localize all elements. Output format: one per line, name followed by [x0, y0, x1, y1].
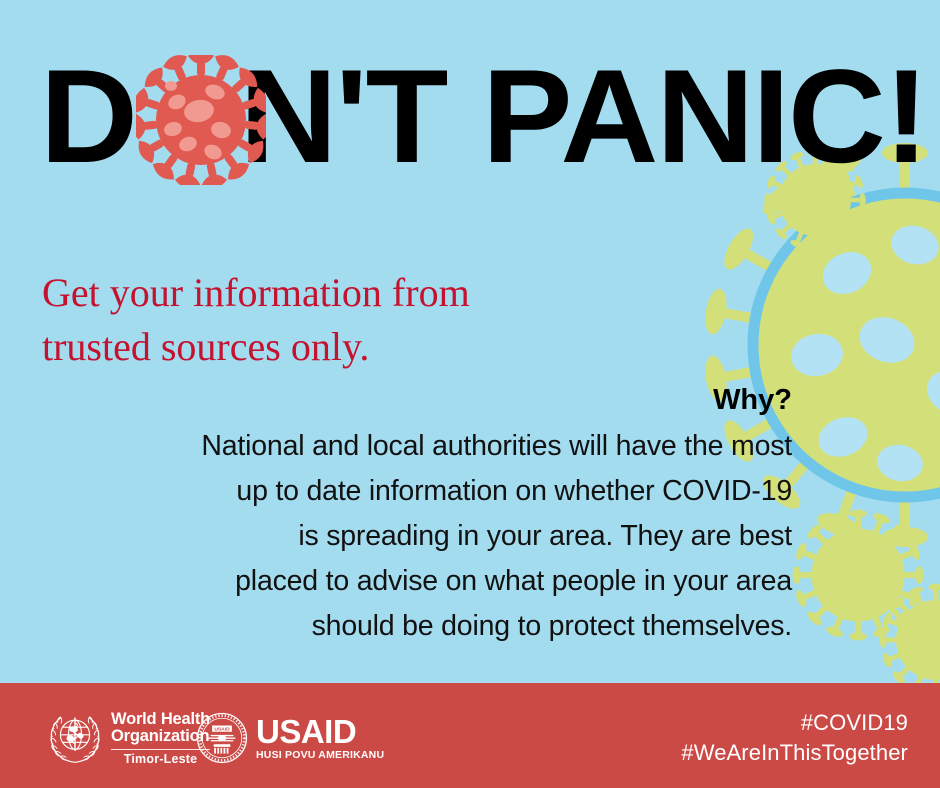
body-line-5: should be doing to protect themselves.: [60, 604, 792, 649]
usaid-logo: USAID USAID HUSI P: [196, 709, 384, 767]
body-line-1: National and local authorities will have…: [60, 424, 792, 469]
hashtag-covid19: #COVID19: [488, 708, 908, 738]
usaid-seal-wordmark: USAID: [214, 727, 230, 733]
who-emblem-icon: [48, 711, 102, 765]
usaid-wordmark: USAID HUSI POVU AMERIKANU: [256, 715, 384, 762]
hashtag-block: #COVID19 #WeAreInThisTogether: [488, 708, 908, 768]
body-text: National and local authorities will have…: [60, 424, 792, 649]
lede-text: Get your information from trusted source…: [42, 266, 682, 374]
lede-line-2: trusted sources only.: [42, 320, 682, 374]
hashtag-we-are-in-this-together: #WeAreInThisTogether: [488, 738, 908, 768]
body-line-3: is spreading in your area. They are best: [60, 514, 792, 559]
virus-edge-green: [880, 584, 940, 697]
headline-part-after-o: N'T PANIC!: [239, 43, 927, 191]
lede-line-1: Get your information from: [42, 266, 682, 320]
usaid-tagline: HUSI POVU AMERIKANU: [256, 749, 384, 762]
virus-red-in-letter-o: [136, 55, 266, 185]
usaid-name: USAID: [256, 715, 384, 748]
who-logo: World Health Organization Timor-Leste: [48, 709, 210, 767]
body-line-2: up to date information on whether COVID-…: [60, 469, 792, 514]
why-label: Why?: [200, 383, 792, 417]
usaid-seal-icon: USAID: [196, 712, 248, 764]
virus-small-green-bottom: [793, 510, 924, 641]
poster-canvas: DON'T PANIC!: [0, 0, 940, 788]
headline-part-before-o: D: [40, 43, 136, 191]
body-line-4: placed to advise on what people in your …: [60, 559, 792, 604]
